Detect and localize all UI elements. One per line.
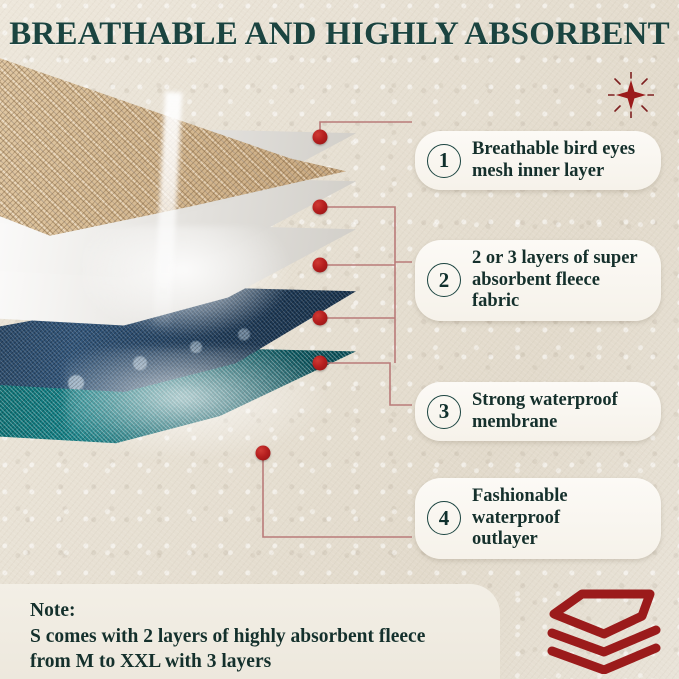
infographic-canvas: BREATHABLE AND HIGHLY ABSORBENT bbox=[0, 0, 679, 679]
water-splash-lower bbox=[66, 348, 326, 458]
callout-3-number: 3 bbox=[427, 395, 461, 429]
water-splash-upper bbox=[82, 226, 292, 336]
note-line-2: from M to XXL with 3 layers bbox=[30, 649, 478, 675]
callout-1-number: 1 bbox=[427, 144, 461, 178]
callout-1-label: Breathable bird eyes mesh inner layer bbox=[472, 139, 635, 182]
callout-4-label: Fashionable waterproof outlayer bbox=[472, 486, 641, 551]
callout-2-label: 2 or 3 layers of super absorbent fleece … bbox=[472, 248, 641, 313]
callout-4: 4 Fashionable waterproof outlayer bbox=[415, 478, 661, 559]
note-panel: Note: S comes with 2 layers of highly ab… bbox=[0, 584, 500, 679]
layers-stack-icon bbox=[546, 586, 664, 674]
note-line-1: S comes with 2 layers of highly absorben… bbox=[30, 624, 478, 650]
callout-1: 1 Breathable bird eyes mesh inner layer bbox=[415, 131, 661, 190]
sparkle-icon bbox=[608, 72, 654, 118]
note-heading: Note: bbox=[30, 598, 478, 624]
callout-4-number: 4 bbox=[427, 501, 461, 535]
callout-3-label: Strong waterproof membrane bbox=[472, 390, 618, 433]
callout-2: 2 2 or 3 layers of super absorbent fleec… bbox=[415, 240, 661, 321]
callout-2-number: 2 bbox=[427, 263, 461, 297]
callout-3: 3 Strong waterproof membrane bbox=[415, 382, 661, 441]
layered-fabric-illustration bbox=[0, 48, 376, 518]
